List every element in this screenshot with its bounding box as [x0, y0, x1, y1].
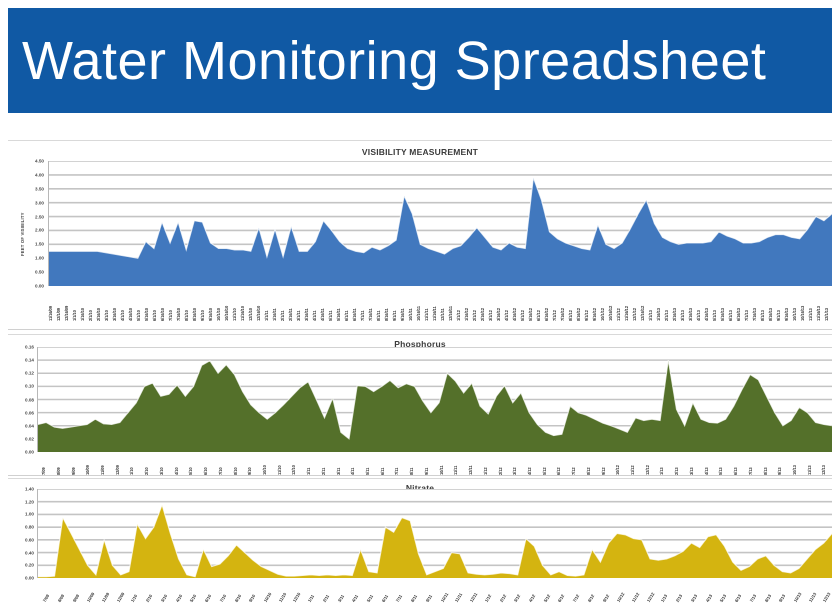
x-tick-label: 1/12 [483, 467, 488, 475]
x-tick-label: 9/1/10 [200, 310, 205, 321]
x-tick-label: 10/09 [85, 465, 90, 475]
x-tick-label: 1/11 [307, 594, 315, 603]
x-tick-label: 10/10 [262, 465, 267, 475]
x-tick-label: 7/11 [394, 468, 399, 475]
page-title: Water Monitoring Spreadsheet [8, 34, 766, 88]
x-tick-label: 7/1/10 [168, 310, 173, 321]
x-tick-label: 4/16/10 [128, 308, 133, 321]
x-tick-label: 4/11 [351, 594, 359, 603]
x-tick-label: 10/1/13 [792, 308, 797, 321]
x-tick-label: 6/12 [557, 594, 565, 603]
x-tick-label: 6/13 [733, 467, 738, 475]
x-tick-label: 9/16/13 [784, 308, 789, 321]
x-tick-label: 10/16/11 [416, 306, 421, 321]
x-tick-label: 8/10 [233, 594, 241, 603]
x-tick-label: 6/16/12 [544, 308, 549, 321]
y-tick-label: 4.50 [35, 159, 44, 164]
x-tick-label: 2/13 [675, 594, 683, 603]
x-tick-label: 9/11 [425, 594, 433, 603]
x-tick-label: 12/16/12 [640, 306, 645, 321]
x-tick-label: 6/11 [380, 594, 388, 603]
y-axis-ticks-visibility: 0.000.501.001.502.002.503.003.504.004.50 [22, 161, 44, 286]
x-tick-label: 5/1/13 [712, 310, 717, 321]
y-tick-label: 0.06 [25, 410, 34, 415]
plot-area-phosphorus [37, 347, 832, 452]
x-tick-label: 1/12 [484, 594, 492, 603]
x-tick-label: 11/10 [277, 465, 282, 475]
x-tick-label: 6/16/11 [352, 308, 357, 321]
x-tick-label: 6/12 [556, 467, 561, 475]
x-tick-label: 11/11 [453, 466, 458, 475]
y-tick-label: 0.08 [25, 397, 34, 402]
x-tick-label: 5/13 [719, 594, 727, 603]
x-tick-label: 2/16/12 [480, 308, 485, 321]
x-tick-label: 2/1/10 [88, 310, 93, 321]
y-tick-label: 2.00 [35, 228, 44, 233]
x-tick-label: 9/1/12 [584, 310, 589, 321]
x-tick-label: 4/13 [704, 594, 712, 603]
x-tick-label: 3/16/13 [688, 308, 693, 321]
y-axis-ticks-phosphorus: 0.000.020.040.060.080.100.120.140.16 [12, 347, 34, 452]
x-tick-label: 5/16/13 [720, 308, 725, 321]
x-tick-label: 1/16/12 [464, 308, 469, 321]
x-axis-labels-phosphorus: 7/098/099/0910/0911/0912/091/102/103/104… [37, 453, 832, 475]
x-tick-label: 12/13 [821, 465, 826, 475]
x-tick-label: 12/16/11 [448, 306, 453, 321]
x-tick-label: 10/1/10 [216, 308, 221, 321]
x-tick-label: 2/13 [674, 467, 679, 475]
y-tick-label: 1.40 [25, 487, 34, 492]
x-tick-label: 9/10 [247, 467, 252, 475]
x-tick-label: 3/11 [336, 594, 344, 603]
x-tick-label: 7/13 [749, 594, 757, 603]
x-tick-label: 10/16/13 [800, 306, 805, 321]
x-tick-label: 7/16/13 [752, 308, 757, 321]
x-tick-label: 12/1/10 [248, 308, 253, 321]
x-axis-labels-nitrate: 7/098/099/0910/0911/0912/091/102/103/104… [37, 579, 832, 603]
x-tick-label: 8/16/12 [576, 308, 581, 321]
x-tick-label: 12/16/10 [256, 306, 261, 321]
x-tick-label: 12/09 [115, 465, 120, 475]
y-tick-label: 0.02 [25, 436, 34, 441]
x-tick-label: 1/11 [306, 468, 311, 475]
y-tick-label: 3.50 [35, 186, 44, 191]
x-tick-label: 2/16/10 [96, 308, 101, 321]
y-tick-label: 0.04 [25, 423, 34, 428]
x-tick-label: 12/11 [469, 592, 479, 603]
x-tick-label: 1/10 [130, 594, 138, 603]
x-tick-label: 9/1/11 [392, 310, 397, 321]
y-tick-label: 0.12 [25, 371, 34, 376]
area-series-visibility-measurement [49, 161, 832, 286]
chart-title-visibility: VISIBILITY MEASUREMENT [8, 147, 832, 157]
x-tick-label: 2/16/11 [288, 308, 293, 321]
x-tick-label: 4/12 [527, 467, 532, 475]
x-tick-label: 9/16/11 [400, 308, 405, 321]
x-tick-label: 11/1/10 [232, 308, 237, 321]
x-tick-label: 7/16/10 [176, 308, 181, 321]
x-tick-label: 4/11 [350, 468, 355, 475]
x-tick-label: 6/16/10 [160, 308, 165, 321]
x-tick-label: 3/1/12 [488, 310, 493, 321]
x-tick-label: 5/12 [542, 467, 547, 475]
x-tick-label: 2/1/11 [280, 310, 285, 321]
x-tick-label: 1/16/11 [272, 308, 277, 321]
x-tick-label: 11/09 [101, 592, 111, 603]
x-axis-labels-visibility: 11/16/0912/1/0912/16/091/1/101/16/102/1/… [48, 287, 832, 321]
x-tick-label: 10/16/12 [608, 306, 613, 321]
area-series-nitrate [38, 489, 832, 578]
x-tick-label: 10/09 [86, 592, 96, 603]
y-tick-label: 0.50 [35, 270, 44, 275]
x-tick-label: 11/09 [100, 465, 105, 475]
x-tick-label: 9/11 [424, 468, 429, 475]
x-tick-label: 4/1/13 [696, 310, 701, 321]
y-tick-label: 1.50 [35, 242, 44, 247]
x-tick-label: 8/11 [409, 468, 414, 475]
y-tick-label: 0.14 [25, 358, 34, 363]
x-tick-label: 1/1/12 [456, 310, 461, 321]
x-tick-label: 11/10 [277, 592, 287, 603]
screenshot-root: Water Monitoring Spreadsheet VISIBILITY … [0, 0, 840, 600]
x-tick-label: 11/11 [454, 592, 463, 603]
x-tick-label: 7/10 [218, 467, 223, 475]
y-tick-label: 1.00 [35, 256, 44, 261]
x-tick-label: 7/12 [571, 467, 576, 475]
x-tick-label: 6/11 [380, 468, 385, 475]
x-tick-label: 9/09 [71, 594, 79, 603]
x-tick-label: 12/1/11 [440, 308, 445, 321]
x-tick-label: 2/16/13 [672, 308, 677, 321]
x-tick-label: 9/10 [248, 594, 256, 603]
y-tick-label: 1.20 [25, 499, 34, 504]
series-fill [49, 178, 832, 286]
x-tick-label: 1/1/11 [264, 310, 269, 321]
x-tick-label: 10/12 [615, 465, 620, 475]
x-tick-label: 3/1/11 [296, 310, 301, 321]
x-tick-label: 9/12 [601, 594, 609, 603]
x-tick-label: 8/1/10 [184, 310, 189, 321]
x-tick-label: 12/1/13 [824, 308, 829, 321]
x-tick-label: 11/12 [630, 465, 635, 475]
x-tick-label: 6/1/11 [344, 310, 349, 321]
x-tick-label: 12/1/12 [632, 308, 637, 321]
x-tick-label: 7/11 [395, 594, 403, 603]
x-tick-label: 5/13 [718, 467, 723, 475]
x-tick-label: 10/11 [439, 592, 449, 603]
x-tick-label: 4/16/11 [320, 308, 325, 321]
x-tick-label: 9/09 [71, 467, 76, 475]
x-tick-label: 1/16/10 [80, 308, 85, 321]
x-tick-label: 7/16/11 [368, 308, 373, 321]
x-tick-label: 9/16/12 [592, 308, 597, 321]
x-tick-label: 5/11 [365, 468, 370, 475]
x-tick-label: 9/12 [601, 467, 606, 475]
x-tick-label: 5/1/10 [136, 310, 141, 321]
plot-area-nitrate [37, 489, 832, 578]
x-tick-label: 10/13 [792, 465, 797, 475]
y-tick-label: 0.00 [25, 450, 34, 455]
x-tick-label: 12/09 [115, 592, 125, 603]
x-tick-label: 8/10 [233, 467, 238, 475]
x-tick-label: 3/10 [160, 594, 168, 603]
x-tick-label: 5/10 [188, 467, 193, 475]
x-tick-label: 11/13 [807, 592, 817, 603]
x-tick-label: 11/16/12 [624, 306, 629, 321]
plot-area-visibility [48, 161, 832, 286]
x-tick-label: 7/1/12 [552, 310, 557, 321]
x-tick-label: 7/1/13 [744, 310, 749, 321]
x-tick-label: 6/16/13 [736, 308, 741, 321]
x-tick-label: 8/1/12 [568, 310, 573, 321]
x-tick-label: 8/16/10 [192, 308, 197, 321]
y-tick-label: 0.16 [25, 345, 34, 350]
x-tick-label: 8/13 [763, 467, 768, 475]
x-tick-label: 4/16/13 [704, 308, 709, 321]
x-tick-label: 11/16/11 [432, 306, 437, 321]
x-tick-label: 11/16/09 [48, 306, 53, 321]
x-tick-label: 5/12 [542, 594, 550, 603]
y-axis-ticks-nitrate: 0.000.200.400.600.801.001.201.40 [12, 489, 34, 578]
x-tick-label: 5/16/11 [336, 308, 341, 321]
x-tick-label: 5/1/12 [520, 310, 525, 321]
y-tick-label: 0.20 [25, 563, 34, 568]
x-tick-label: 8/16/11 [384, 308, 389, 321]
x-tick-label: 8/11 [410, 594, 418, 603]
x-tick-label: 7/16/12 [560, 308, 565, 321]
x-tick-label: 4/1/10 [120, 310, 125, 321]
x-tick-label: 3/10 [159, 467, 164, 475]
x-tick-label: 4/1/12 [504, 310, 509, 321]
x-tick-label: 12/10 [291, 465, 296, 475]
x-tick-label: 10/11 [439, 465, 444, 475]
x-tick-label: 2/1/12 [472, 310, 477, 321]
x-tick-label: 12/10 [292, 592, 302, 603]
x-tick-label: 4/10 [174, 594, 182, 603]
x-tick-label: 12/13 [822, 592, 832, 603]
x-tick-label: 10/12 [616, 592, 626, 603]
x-tick-label: 4/13 [704, 467, 709, 475]
x-tick-label: 2/11 [321, 468, 326, 475]
x-tick-label: 2/10 [145, 594, 153, 603]
x-tick-label: 7/12 [572, 594, 580, 603]
x-tick-label: 3/16/11 [304, 308, 309, 321]
x-tick-label: 11/1/12 [616, 308, 621, 321]
area-series-phosphorus [38, 347, 832, 452]
x-tick-label: 9/13 [777, 467, 782, 475]
x-tick-label: 8/12 [587, 594, 595, 603]
y-tick-label: 0.00 [35, 284, 44, 289]
x-tick-label: 7/1/11 [360, 310, 365, 321]
x-tick-label: 9/13 [778, 594, 786, 603]
x-tick-label: 3/16/12 [496, 308, 501, 321]
x-tick-label: 11/16/13 [816, 306, 821, 321]
y-tick-label: 4.00 [35, 172, 44, 177]
x-tick-label: 12/12 [645, 592, 655, 603]
x-tick-label: 10/1/11 [408, 308, 413, 321]
x-tick-label: 10/1/12 [600, 308, 605, 321]
x-tick-label: 5/11 [366, 594, 374, 603]
x-tick-label: 2/12 [498, 594, 506, 603]
x-tick-label: 10/16/10 [224, 306, 229, 321]
series-fill [38, 505, 832, 578]
x-tick-label: 9/16/10 [208, 308, 213, 321]
x-tick-label: 2/1/13 [664, 310, 669, 321]
y-tick-label: 1.00 [25, 512, 34, 517]
x-tick-label: 11/1/11 [424, 308, 429, 321]
x-tick-label: 12/16/09 [64, 306, 69, 321]
x-tick-label: 6/1/13 [728, 310, 733, 321]
x-tick-label: 7/10 [219, 594, 227, 603]
page-banner: Water Monitoring Spreadsheet [8, 8, 832, 113]
y-tick-label: 0.10 [25, 384, 34, 389]
y-tick-label: 3.00 [35, 200, 44, 205]
x-tick-label: 7/09 [41, 467, 46, 475]
x-tick-label: 10/13 [793, 592, 803, 603]
x-tick-label: 12/11 [468, 465, 473, 475]
x-tick-label: 12/1/09 [56, 308, 61, 321]
y-tick-label: 2.50 [35, 214, 44, 219]
chart-visibility-measurement: VISIBILITY MEASUREMENT FEET OF VISIBILIT… [8, 140, 832, 330]
x-tick-label: 6/1/12 [536, 310, 541, 321]
x-tick-label: 8/09 [56, 467, 61, 475]
x-tick-label: 1/1/13 [648, 310, 653, 321]
x-tick-label: 7/09 [42, 594, 50, 603]
x-tick-label: 5/16/12 [528, 308, 533, 321]
x-tick-label: 4/1/11 [312, 310, 317, 321]
x-tick-label: 6/1/10 [152, 310, 157, 321]
x-tick-label: 7/13 [748, 467, 753, 475]
x-tick-label: 3/1/10 [104, 310, 109, 321]
x-tick-label: 8/1/11 [376, 310, 381, 321]
x-tick-label: 2/12 [498, 467, 503, 475]
x-tick-label: 8/09 [57, 594, 65, 603]
x-tick-label: 3/13 [690, 594, 698, 603]
x-tick-label: 4/12 [528, 594, 536, 603]
x-tick-label: 3/13 [689, 467, 694, 475]
x-tick-label: 5/10 [189, 594, 197, 603]
x-tick-label: 1/1/10 [72, 310, 77, 321]
x-tick-label: 3/12 [513, 594, 521, 603]
x-tick-label: 11/1/13 [808, 308, 813, 321]
x-tick-label: 5/16/10 [144, 308, 149, 321]
x-tick-label: 3/1/13 [680, 310, 685, 321]
x-tick-label: 1/13 [660, 594, 668, 603]
x-tick-label: 1/16/13 [656, 308, 661, 321]
y-tick-label: 0.60 [25, 537, 34, 542]
x-tick-label: 9/1/13 [776, 310, 781, 321]
x-tick-label: 12/12 [645, 465, 650, 475]
x-tick-label: 4/16/12 [512, 308, 517, 321]
x-tick-label: 4/10 [174, 467, 179, 475]
x-tick-label: 1/10 [129, 467, 134, 475]
x-tick-label: 8/12 [586, 467, 591, 475]
x-tick-label: 8/13 [763, 594, 771, 603]
x-tick-label: 11/13 [807, 465, 812, 475]
x-tick-label: 8/16/13 [768, 308, 773, 321]
x-tick-label: 5/1/11 [328, 310, 333, 321]
chart-nitrate: Nitrate 0.000.200.400.600.801.001.201.40… [8, 478, 832, 600]
y-tick-label: 0.80 [25, 525, 34, 530]
x-tick-label: 10/10 [263, 592, 273, 603]
x-tick-label: 3/16/10 [112, 308, 117, 321]
x-tick-label: 11/12 [631, 592, 641, 603]
x-tick-label: 8/1/13 [760, 310, 765, 321]
x-tick-label: 6/10 [204, 594, 212, 603]
x-tick-label: 11/16/10 [240, 306, 245, 321]
y-tick-label: 0.00 [25, 576, 34, 581]
x-tick-label: 2/10 [144, 467, 149, 475]
x-tick-label: 1/13 [659, 467, 664, 475]
x-tick-label: 6/10 [203, 467, 208, 475]
x-tick-label: 6/13 [734, 594, 742, 603]
chart-phosphorus: Phosphorus 0.000.020.040.060.080.100.120… [8, 334, 832, 476]
x-tick-label: 2/11 [322, 594, 330, 603]
y-tick-label: 0.40 [25, 550, 34, 555]
x-tick-label: 3/11 [336, 468, 341, 475]
x-tick-label: 3/12 [512, 467, 517, 475]
